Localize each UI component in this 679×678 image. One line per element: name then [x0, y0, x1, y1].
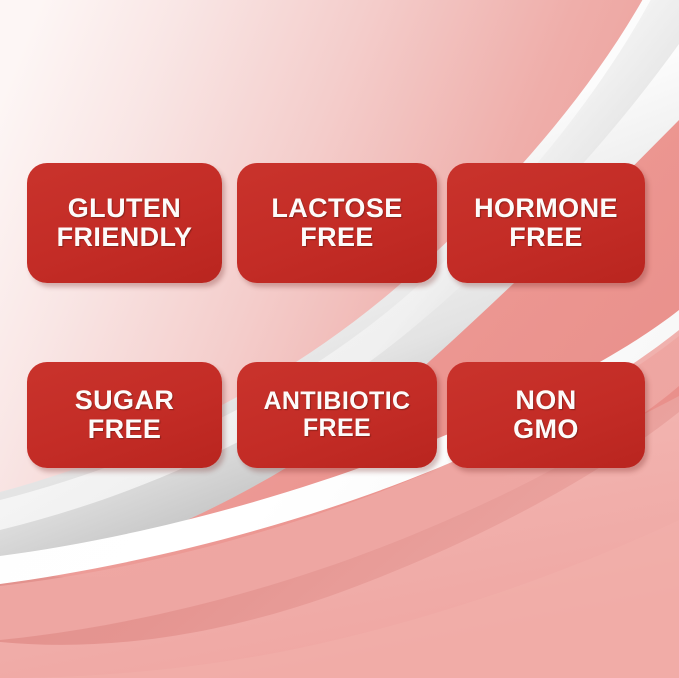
- badge-hormone-free-label: HORMONE FREE: [466, 194, 626, 252]
- badge-antibiotic-free[interactable]: ANTIBIOTIC FREE: [237, 362, 437, 468]
- badge-sugar-free-label: SUGAR FREE: [67, 386, 183, 444]
- badge-grid: GLUTEN FRIENDLY LACTOSE FREE HORMONE FRE…: [0, 0, 679, 678]
- badge-antibiotic-free-label: ANTIBIOTIC FREE: [255, 388, 418, 442]
- badge-hormone-free[interactable]: HORMONE FREE: [447, 163, 645, 283]
- badge-non-gmo[interactable]: NON GMO: [447, 362, 645, 468]
- badge-non-gmo-label: NON GMO: [505, 386, 587, 444]
- badge-gluten-friendly[interactable]: GLUTEN FRIENDLY: [27, 163, 222, 283]
- badge-lactose-free[interactable]: LACTOSE FREE: [237, 163, 437, 283]
- badge-lactose-free-label: LACTOSE FREE: [263, 194, 410, 252]
- badge-sugar-free[interactable]: SUGAR FREE: [27, 362, 222, 468]
- product-badges-graphic: GLUTEN FRIENDLY LACTOSE FREE HORMONE FRE…: [0, 0, 679, 678]
- badge-gluten-friendly-label: GLUTEN FRIENDLY: [49, 194, 201, 252]
